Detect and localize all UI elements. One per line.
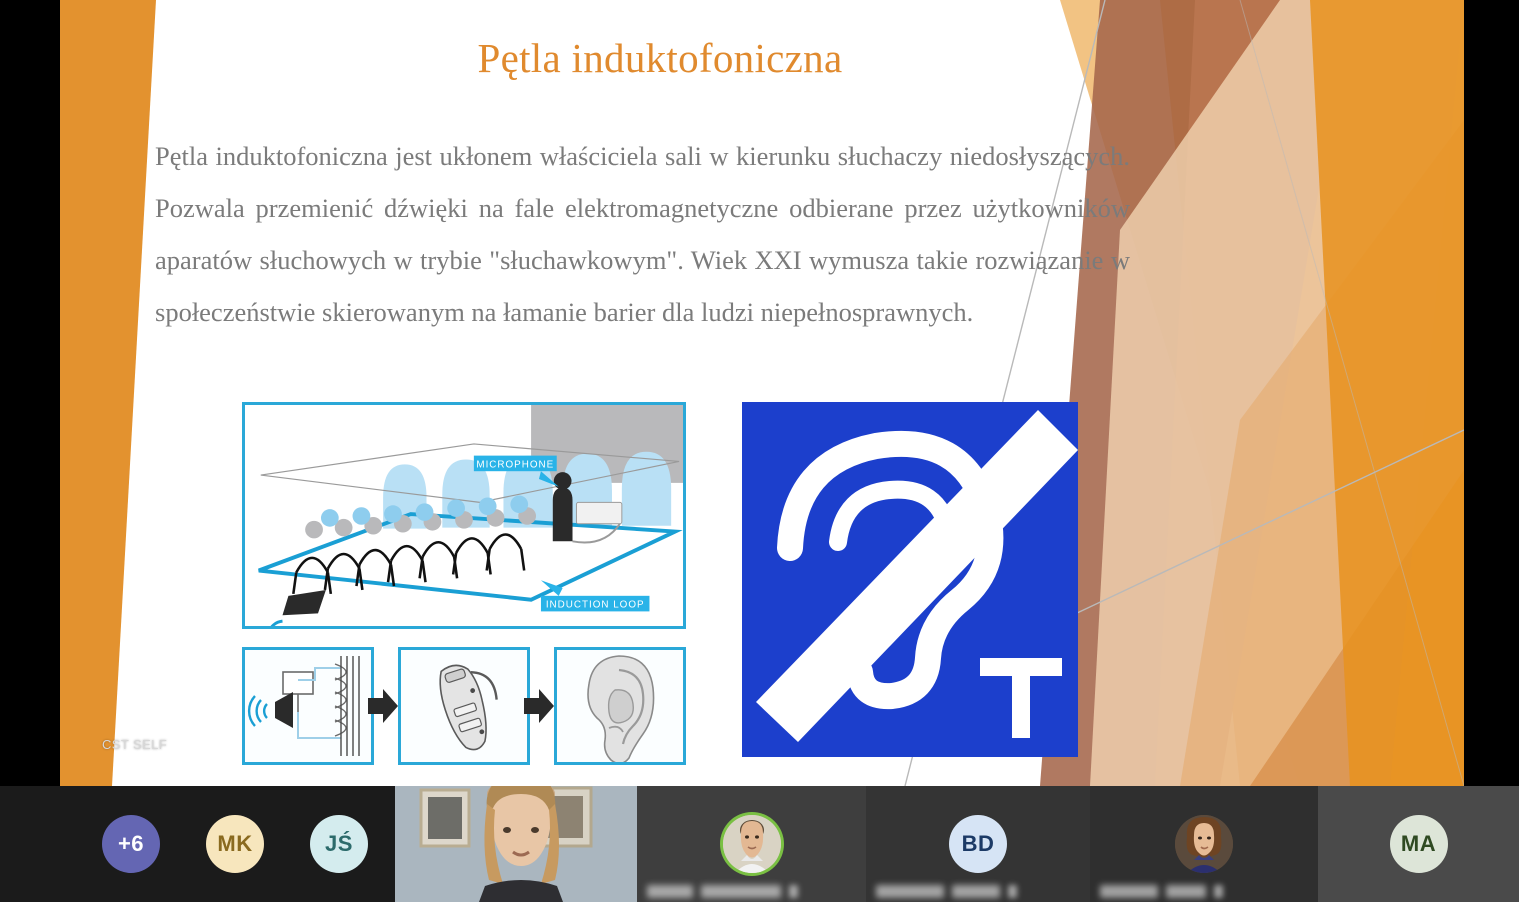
participant-name-label: [1100, 885, 1223, 898]
avatar-participant-photo-2[interactable]: [1175, 815, 1233, 873]
arrow-right-icon-1: [368, 687, 398, 725]
signal-chain-strip: [242, 647, 686, 765]
slide-title: Pętla induktofoniczna: [160, 34, 1160, 82]
participant-name-label: [647, 885, 798, 898]
participant-tile-group[interactable]: +6 MK JŚ: [0, 786, 395, 902]
avatar-initials: +6: [118, 831, 144, 857]
slide-image-group: MICROPHONE INDUCTION LOOP: [242, 402, 1018, 765]
mic-status-icon: [1008, 885, 1017, 898]
participant-tile-ma[interactable]: MA: [1318, 786, 1519, 902]
slide-body-text: Pętla induktofoniczna jest ukłonem właśc…: [155, 130, 1130, 338]
hearing-aid-panel: [398, 647, 530, 765]
induction-loop-room-diagram: MICROPHONE INDUCTION LOOP: [242, 402, 686, 629]
avatar-participant-photo-speaking[interactable]: [723, 815, 781, 873]
arrow-right-icon-2: [524, 687, 554, 725]
hearing-loop-symbol-sign: [742, 402, 1078, 757]
presentation-slide: Pętla induktofoniczna Pętla induktofonic…: [60, 0, 1464, 786]
avatar-initials: BD: [962, 831, 995, 857]
participant-name-label: [876, 885, 1017, 898]
avatar-initials: MK: [217, 831, 252, 857]
avatar-participant-bd[interactable]: BD: [949, 815, 1007, 873]
mic-status-icon: [789, 885, 798, 898]
screen-share-watermark: CST SELF: [102, 737, 167, 752]
avatar-participant-mk[interactable]: MK: [206, 815, 264, 873]
amplifier-and-loop-coil-panel: [242, 647, 374, 765]
avatar-participant-js[interactable]: JŚ: [310, 815, 368, 873]
human-ear-panel: [554, 647, 686, 765]
participant-tile-bd[interactable]: BD: [866, 786, 1090, 902]
participant-filmstrip[interactable]: +6 MK JŚ: [0, 786, 1519, 902]
participant-tile-photo-speaking[interactable]: [637, 786, 866, 902]
avatar-overflow-participants[interactable]: +6: [102, 815, 160, 873]
avatar-participant-ma[interactable]: MA: [1390, 815, 1448, 873]
svg-text:MICROPHONE: MICROPHONE: [476, 459, 554, 470]
shared-screen-stage[interactable]: Pętla induktofoniczna Pętla induktofonic…: [0, 0, 1519, 786]
avatar-initials: MA: [1401, 831, 1436, 857]
participant-video-feed: [395, 786, 637, 902]
svg-text:INDUCTION LOOP: INDUCTION LOOP: [546, 600, 645, 611]
avatar-initials: JŚ: [325, 831, 353, 857]
participant-tile-video[interactable]: [395, 786, 637, 902]
mic-status-icon: [1214, 885, 1223, 898]
meeting-screen-share-view: Pętla induktofoniczna Pętla induktofonic…: [0, 0, 1519, 902]
participant-tile-photo-2[interactable]: [1090, 786, 1318, 902]
